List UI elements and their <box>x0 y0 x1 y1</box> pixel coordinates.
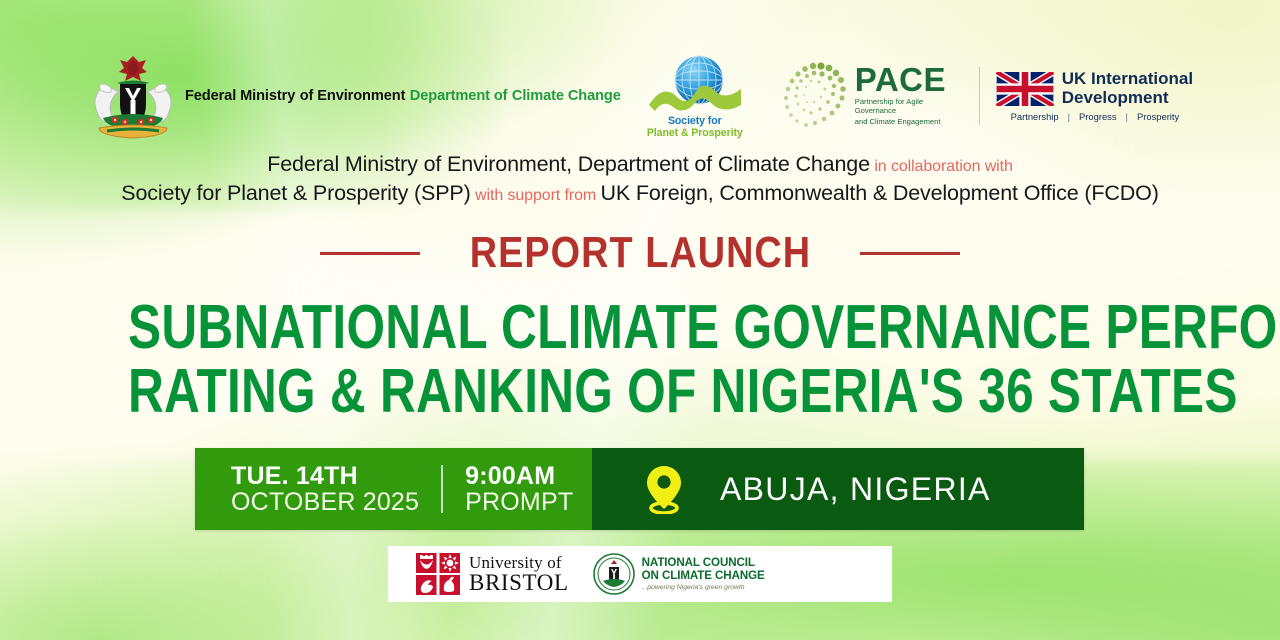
subtitle-line-2: Society for Planet & Prosperity (SPP) wi… <box>0 179 1280 208</box>
ukid-tagline: Partnership | Progress | Prosperity <box>1010 111 1180 122</box>
spp-caption-line2: Planet & Prosperity <box>643 128 747 139</box>
bristol-line2: BRISTOL <box>469 571 569 594</box>
nccc-line1: NATIONAL COUNCIL <box>642 557 765 570</box>
pace-tagline-line2: and Climate Engagement <box>855 118 959 127</box>
ukid-row: UK International Development <box>996 70 1193 106</box>
ukid-line1: UK International <box>1062 70 1193 88</box>
ukid-tag-sep-2: | <box>1126 111 1128 122</box>
logo-strip-divider <box>979 67 980 125</box>
event-time: 9:00AM PROMPT <box>465 463 573 515</box>
report-launch-rule-right <box>860 252 960 255</box>
supporter-logo-strip: University of BRISTOL NATIONAL COUNCIL O… <box>388 546 892 602</box>
nccc-wordmark: NATIONAL COUNCIL ON CLIMATE CHANGE ...po… <box>642 557 765 591</box>
event-when-panel: TUE. 14TH OCTOBER 2025 9:00AM PROMPT <box>195 448 592 530</box>
map-pin-icon <box>644 464 684 514</box>
ukid-wordmark: UK International Development <box>1062 70 1193 106</box>
subtitle-line2-fcdo: UK Foreign, Commonwealth & Development O… <box>601 181 1159 205</box>
event-where-panel: ABUJA, NIGERIA <box>592 448 1084 530</box>
ukid-tag-partnership: Partnership <box>1011 111 1059 122</box>
fme-line1: Federal Ministry <box>185 88 295 104</box>
pace-tagline-line1: Partnership for Agile Governance <box>855 98 959 116</box>
subtitle-line1-collaboration: in collaboration with <box>874 158 1012 175</box>
event-date: TUE. 14TH OCTOBER 2025 <box>231 463 419 515</box>
nccc-tagline: ...powering Nigeria's green growth <box>642 584 765 591</box>
logo-federal-ministry: Federal Ministry of Environment Departme… <box>87 52 621 140</box>
subtitle-line1-organiser: Federal Ministry of Environment, Departm… <box>267 152 870 176</box>
logo-pace: PACE Partnership for Agile Governance an… <box>775 58 959 134</box>
bristol-wordmark: University of BRISTOL <box>469 554 569 594</box>
nccc-seal-icon <box>593 553 635 595</box>
nccc-line2: ON CLIMATE CHANGE <box>642 570 765 583</box>
fme-line2: of Environment <box>300 88 406 104</box>
fme-line4: Climate Change <box>512 88 621 104</box>
bristol-line1: University of <box>469 554 569 571</box>
logo-spp: Society for Planet & Prosperity <box>643 53 747 138</box>
subtitle-line-1: Federal Ministry of Environment, Departm… <box>0 150 1280 179</box>
pace-word: PACE <box>855 65 959 95</box>
dotted-spiral-icon <box>775 58 851 134</box>
spp-caption: Society for Planet & Prosperity <box>643 116 747 138</box>
report-launch-header: REPORT LAUNCH <box>0 228 1280 278</box>
logo-uk-international-development: UK International Development Partnership… <box>996 70 1193 121</box>
event-details-bar: TUE. 14TH OCTOBER 2025 9:00AM PROMPT ABU… <box>195 448 1084 530</box>
event-title-line2: RATING & RANKING OF NIGERIA'S 36 STATES <box>128 360 1152 424</box>
event-date-day: TUE. 14TH <box>231 463 419 489</box>
subtitle-line2-support: with support from <box>475 187 596 204</box>
partner-logo-strip: Federal Ministry of Environment Departme… <box>0 48 1280 144</box>
nigeria-coat-of-arms-icon <box>87 52 179 140</box>
logo-university-of-bristol: University of BRISTOL <box>416 553 569 595</box>
when-divider <box>441 465 443 513</box>
report-launch-label: REPORT LAUNCH <box>469 228 810 278</box>
report-launch-rule-left <box>320 252 420 255</box>
federal-ministry-wordmark: Federal Ministry of Environment Departme… <box>185 87 621 105</box>
ukid-line2: Development <box>1062 89 1193 107</box>
organiser-subtitle: Federal Ministry of Environment, Departm… <box>0 150 1280 207</box>
ukid-tag-prosperity: Prosperity <box>1137 111 1179 122</box>
pace-wordmark: PACE Partnership for Agile Governance an… <box>855 65 959 126</box>
globe-swoosh-icon <box>643 53 747 115</box>
logo-national-council-climate-change: NATIONAL COUNCIL ON CLIMATE CHANGE ...po… <box>593 553 765 595</box>
fme-line3: Department of <box>410 88 508 104</box>
event-title: SUBNATIONAL CLIMATE GOVERNANCE PERFORMAN… <box>0 296 1280 424</box>
ukid-tag-sep-1: | <box>1068 111 1070 122</box>
spp-caption-line1: Society for <box>643 116 747 127</box>
union-jack-flag-icon <box>996 72 1054 106</box>
event-location: ABUJA, NIGERIA <box>720 471 991 508</box>
event-title-line1: SUBNATIONAL CLIMATE GOVERNANCE PERFORMAN… <box>128 296 1152 360</box>
event-date-month: OCTOBER 2025 <box>231 489 419 515</box>
event-banner: Federal Ministry of Environment Departme… <box>0 0 1280 640</box>
event-time-value: 9:00AM <box>465 463 573 489</box>
subtitle-line2-spp: Society for Planet & Prosperity (SPP) <box>121 181 470 205</box>
bristol-crest-icon <box>416 553 460 595</box>
event-time-prompt: PROMPT <box>465 489 573 515</box>
ukid-tag-progress: Progress <box>1079 111 1117 122</box>
